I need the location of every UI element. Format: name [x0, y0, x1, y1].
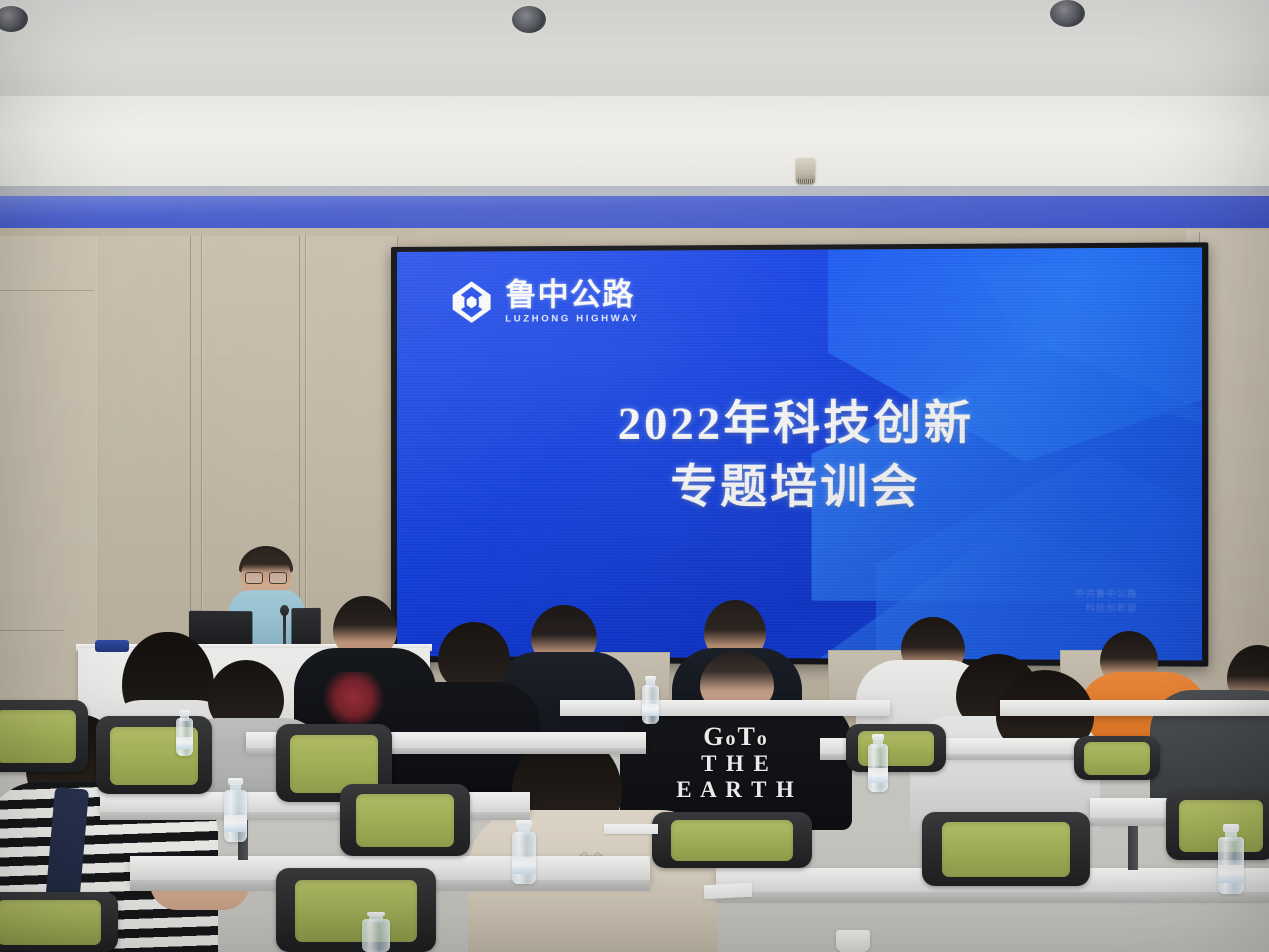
downlight-icon [1050, 0, 1085, 27]
bottle-body [362, 919, 390, 952]
wall-seam [0, 630, 64, 631]
desk-leg [1128, 826, 1138, 870]
desk-row-back [560, 700, 890, 716]
water-bottle[interactable] [224, 778, 247, 842]
chair[interactable] [922, 812, 1090, 886]
chair[interactable] [846, 724, 946, 772]
chair[interactable] [276, 868, 436, 952]
downlight-icon [512, 6, 546, 33]
cup[interactable] [836, 930, 870, 952]
bottle-label [512, 857, 536, 874]
logo-chinese-name: 鲁中公路 [505, 279, 639, 311]
water-bottle[interactable] [176, 710, 193, 756]
logo-text-wrap: 鲁中公路 LUZHONG HIGHWAY [505, 279, 639, 324]
paper-sheet [604, 824, 658, 834]
chair-seat-pad [1084, 742, 1149, 775]
slide-title-line-2: 专题培训会 [397, 455, 1202, 520]
brand-logo-lockup: 鲁中公路 LUZHONG HIGHWAY [449, 279, 640, 325]
chair[interactable] [0, 700, 88, 772]
slide-footnote: 中共鲁中公路 科技创新部 [1075, 587, 1137, 615]
chair-seat-pad [356, 794, 455, 847]
chair-seat-pad [0, 710, 76, 763]
screen-surface: 鲁中公路 LUZHONG HIGHWAY 2022年科技创新 专题培训会 中共鲁… [397, 247, 1202, 660]
water-bottle[interactable] [362, 912, 390, 952]
red-graphic-print [322, 672, 388, 728]
bottle-label [224, 815, 247, 832]
luzhong-highway-diamond-logo-icon [449, 280, 494, 325]
tee-graphic-text: GoTo T H E E A R T H [620, 722, 852, 803]
wall-left-block [0, 236, 104, 706]
conference-room-photo: 鲁中公路 LUZHONG HIGHWAY 2022年科技创新 专题培训会 中共鲁… [0, 0, 1269, 952]
slide-footnote-line-1: 中共鲁中公路 [1075, 587, 1137, 601]
water-bottle[interactable] [868, 734, 888, 792]
bottle-label [1218, 865, 1244, 883]
chair-seat-pad [942, 822, 1070, 877]
chair-seat-pad [671, 820, 793, 861]
bottle-label [642, 704, 659, 716]
chair[interactable] [340, 784, 470, 856]
chair[interactable] [96, 716, 212, 794]
chair[interactable] [1074, 736, 1160, 780]
ceiling-soffit [0, 96, 1269, 192]
water-bottle[interactable] [642, 676, 659, 724]
chair[interactable] [652, 812, 812, 868]
slide-footnote-line-2: 科技创新部 [1075, 601, 1137, 615]
desk-row-back [1000, 700, 1269, 716]
slide-title: 2022年科技创新 专题培训会 [397, 391, 1202, 521]
paper-sheet [704, 883, 753, 899]
bottle-label [176, 737, 193, 749]
water-bottle[interactable] [1218, 824, 1244, 894]
presenter-glasses-icon [245, 572, 287, 582]
bottle-label [868, 768, 888, 783]
wall-seam [0, 290, 94, 291]
water-bottle[interactable] [512, 820, 536, 884]
chair-seat-pad [295, 880, 417, 942]
slide-title-line-1: 2022年科技创新 [397, 391, 1202, 456]
chair[interactable] [0, 892, 118, 952]
chair-seat-pad [0, 900, 101, 944]
desk-edge [716, 892, 1269, 903]
smoke-detector-icon [796, 158, 815, 184]
logo-english-name: LUZHONG HIGHWAY [505, 314, 639, 324]
led-presentation-screen: 鲁中公路 LUZHONG HIGHWAY 2022年科技创新 专题培训会 中共鲁… [391, 242, 1208, 666]
